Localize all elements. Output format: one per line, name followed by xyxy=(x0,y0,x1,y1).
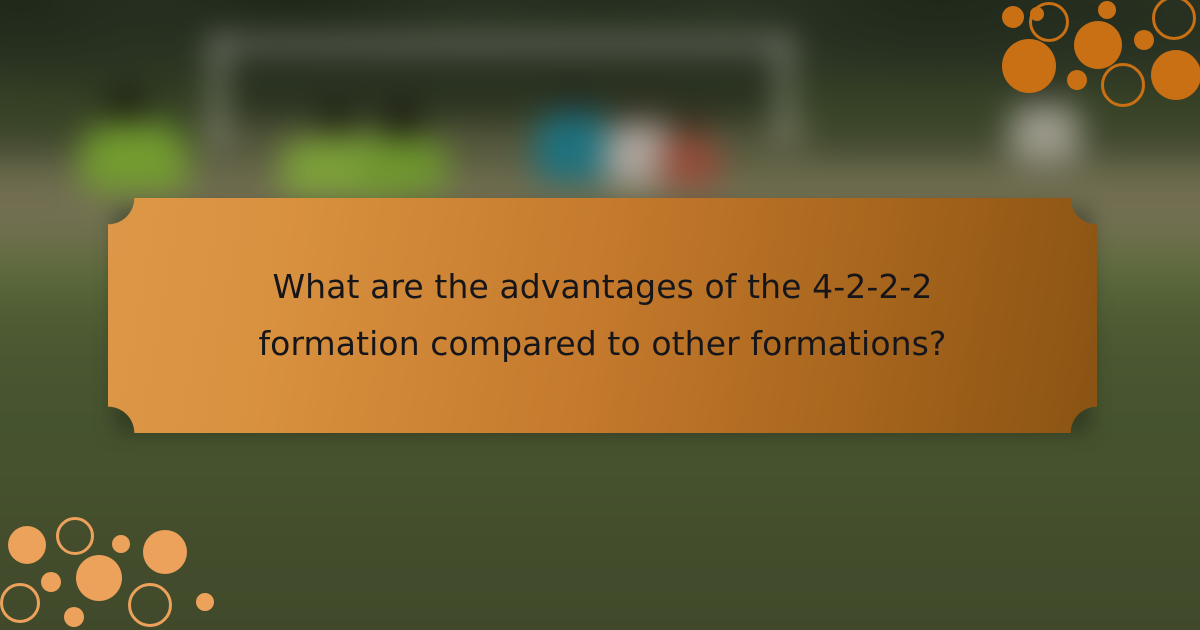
decorative-dot-outline xyxy=(56,517,94,555)
decorative-dot-filled xyxy=(1098,1,1116,19)
decorative-dot-filled xyxy=(1002,6,1024,28)
decorative-dot-filled xyxy=(143,530,187,574)
decorative-dot-filled xyxy=(1002,39,1056,93)
decorative-dot-filled xyxy=(196,593,214,611)
decorative-circles-top-right xyxy=(980,0,1200,120)
decorative-dot-filled xyxy=(1134,30,1154,50)
social-card-image: What are the advantages of the 4-2-2-2 f… xyxy=(0,0,1200,630)
decorative-dot-outline xyxy=(128,583,172,627)
decorative-dot-filled xyxy=(112,535,130,553)
card-surface: What are the advantages of the 4-2-2-2 f… xyxy=(108,198,1097,433)
decorative-dot-filled xyxy=(76,555,122,601)
decorative-dot-outline xyxy=(0,583,40,623)
decorative-dot-filled xyxy=(41,572,61,592)
question-card: What are the advantages of the 4-2-2-2 f… xyxy=(108,198,1097,433)
decorative-dot-filled xyxy=(1074,21,1122,69)
decorative-dot-outline xyxy=(1029,2,1069,42)
decorative-dot-filled xyxy=(64,607,84,627)
decorative-dot-filled xyxy=(1067,70,1087,90)
question-text: What are the advantages of the 4-2-2-2 f… xyxy=(163,259,1043,373)
decorative-dot-outline xyxy=(1152,0,1196,40)
decorative-dot-outline xyxy=(1101,63,1145,107)
decorative-dot-filled xyxy=(8,526,46,564)
decorative-circles-bottom-left xyxy=(0,500,240,630)
decorative-dot-filled xyxy=(1151,50,1200,100)
